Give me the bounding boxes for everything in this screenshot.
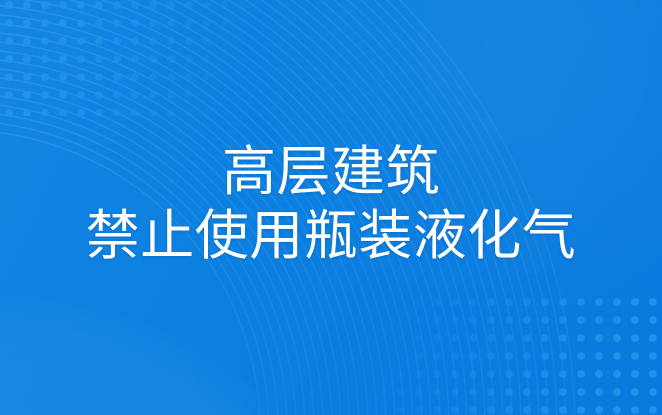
headline-line-1: 高层建筑 [0,140,662,204]
safety-notice-banner: 高层建筑 禁止使用瓶装液化气 [0,0,662,415]
headline-line-2: 禁止使用瓶装液化气 [0,204,662,268]
headline: 高层建筑 禁止使用瓶装液化气 [0,140,662,268]
